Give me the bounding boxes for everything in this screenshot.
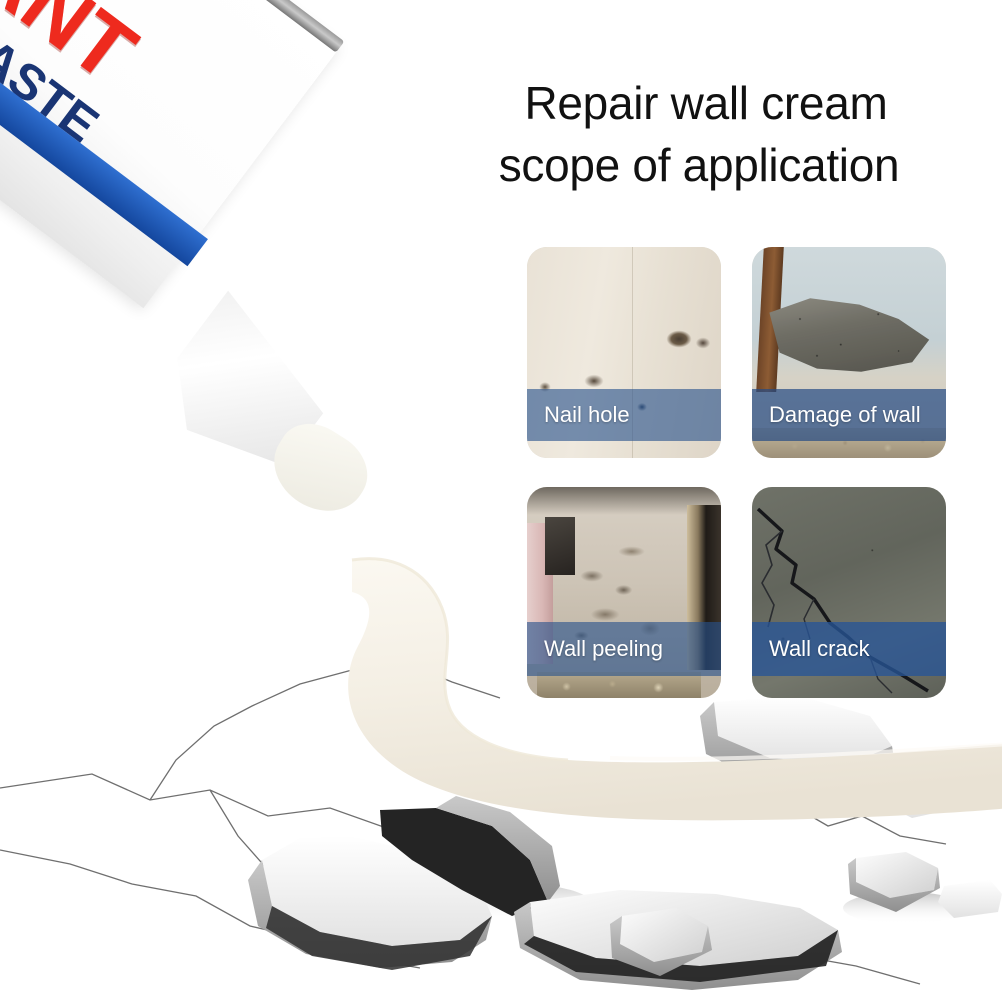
concrete-chunk — [766, 295, 936, 375]
product-marketing-image: Seal&Repair · Quick dry INSTANT REPAIR P… — [0, 0, 1002, 1002]
product-tube: Seal&Repair · Quick dry INSTANT REPAIR P… — [0, 0, 460, 670]
card-label: Wall crack — [752, 636, 870, 662]
card-label: Damage of wall — [752, 402, 921, 428]
application-card-nail-hole[interactable]: Nail hole — [527, 247, 721, 458]
headline: Repair wall cream scope of application — [430, 72, 982, 196]
headline-line-1: Repair wall cream — [430, 72, 982, 134]
application-card-wall-peeling[interactable]: Wall peeling — [527, 487, 721, 698]
card-label-band: Damage of wall — [752, 389, 946, 441]
card-label-band: Nail hole — [527, 389, 721, 441]
headline-line-2: scope of application — [416, 134, 982, 196]
card-label: Nail hole — [527, 402, 630, 428]
application-card-wall-crack[interactable]: Wall crack — [752, 487, 946, 698]
application-card-damage-of-wall[interactable]: Damage of wall — [752, 247, 946, 458]
card-label: Wall peeling — [527, 636, 663, 662]
card-label-band: Wall peeling — [527, 622, 721, 676]
application-card-grid: Nail hole Damage of wall — [527, 247, 946, 698]
card-label-band: Wall crack — [752, 622, 946, 676]
tube-body: Seal&Repair · Quick dry INSTANT REPAIR P… — [0, 0, 342, 308]
